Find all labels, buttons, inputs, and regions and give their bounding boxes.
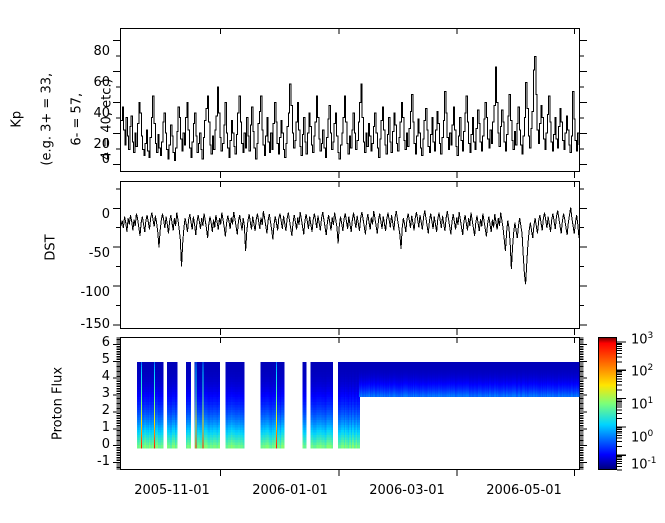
colorbar-mantissa-100: 10 [631,364,648,379]
flux-ytick-2: 2 [78,403,110,418]
xtick-2006-05-01: 2006-05-01 [464,483,584,498]
flux-ytick-0: 0 [78,437,110,452]
proton-flux-axis-label: Proton Flux [51,349,66,459]
dst-trace-svg [121,182,579,328]
kp-ytick-0: 0 [72,152,110,167]
dst-ytick-0: 0 [62,207,110,222]
flux-ytick-3: 3 [78,386,110,401]
colorbar-mantissa-0.1: 10 [631,457,648,472]
flux-ytick-m1: -1 [74,454,110,469]
kp-ytick-40: 40 [72,106,110,121]
colorbar-exponent-1000: 3 [648,331,654,341]
kp-axis-label: Kp (e.g. 3+ = 33, 6- = 57, 4 = 40, etc.) [0,48,130,208]
kp-axis-label-line2: (e.g. 3+ = 33, [40,73,55,166]
xtick-2005-11-01: 2005-11-01 [112,483,232,498]
figure-canvas: Kp (e.g. 3+ = 33, 6- = 57, 4 = 40, etc.)… [0,0,665,523]
dst-axis-label: DST [44,218,59,278]
colorbar-mantissa-1000: 10 [631,332,648,347]
proton-flux-spectrogram-svg [121,338,579,469]
dst-ytick-m150: -150 [62,317,110,332]
dst-plot-panel [120,181,580,329]
dst-ytick-m50: -50 [62,246,110,261]
colorbar-exponent-10: 1 [648,396,654,406]
proton-flux-plot-panel [120,337,580,470]
xtick-2006-03-01: 2006-03-01 [347,483,467,498]
colorbar-gradient [599,338,616,469]
proton-flux-colorbar [598,337,617,470]
flux-ytick-5: 5 [78,352,110,367]
colorbar-exponent-0.1: -1 [648,456,657,466]
colorbar-tick-marks [617,336,631,471]
colorbar-tick-label-0.1: 10-1 [631,456,657,472]
kp-plot-panel [120,28,580,172]
colorbar-tick-label-100: 102 [631,363,653,379]
xtick-2006-01-01: 2006-01-01 [230,483,350,498]
colorbar-exponent-1: 0 [648,429,654,439]
colorbar-mantissa-10: 10 [631,397,648,412]
kp-ytick-60: 60 [72,75,110,90]
flux-ytick-1: 1 [78,420,110,435]
kp-ytick-80: 80 [72,44,110,59]
kp-ytick-20: 20 [72,137,110,152]
flux-ytick-6: 6 [78,335,110,350]
colorbar-tick-label-1000: 103 [631,331,653,347]
colorbar-mantissa-1: 10 [631,430,648,445]
kp-trace-svg [121,29,579,171]
colorbar-tick-label-1: 100 [631,429,653,445]
kp-axis-label-line1: Kp [10,111,25,128]
colorbar-tick-label-10: 101 [631,396,653,412]
dst-ytick-m100: -100 [62,285,110,300]
flux-ytick-4: 4 [78,369,110,384]
colorbar-exponent-100: 2 [648,363,654,373]
